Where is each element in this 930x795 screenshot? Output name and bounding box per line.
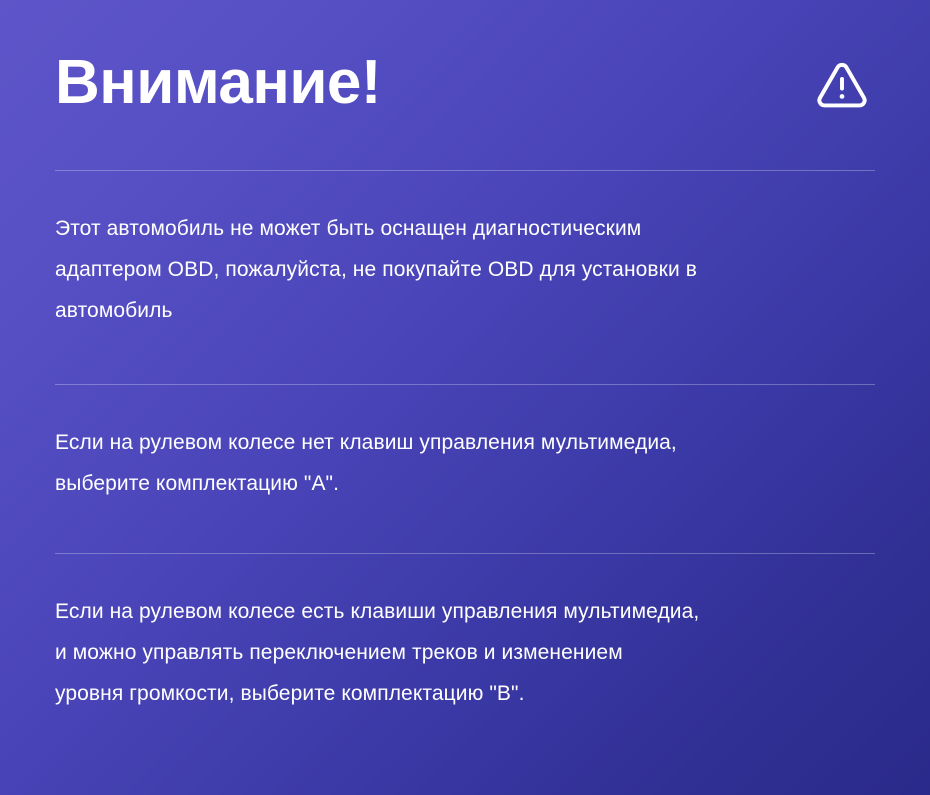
warning-triangle-icon — [812, 55, 872, 115]
notice-body: Этот автомобиль не может быть оснащен ди… — [55, 171, 875, 715]
warning-notice-card: Внимание! Этот автомобиль не может быть … — [0, 0, 930, 795]
notice-block-obd-warning: Этот автомобиль не может быть оснащен ди… — [55, 171, 875, 384]
notice-line: автомобиль — [55, 291, 875, 332]
notice-header: Внимание! — [55, 0, 875, 170]
notice-line: выберите комплектацию "A". — [55, 464, 875, 505]
notice-line: и можно управлять переключением треков и… — [55, 633, 875, 674]
notice-line: Этот автомобиль не может быть оснащен ди… — [55, 209, 875, 250]
notice-block-variant-a: Если на рулевом колесе нет клавиш управл… — [55, 385, 875, 553]
notice-line: уровня громкости, выберите комплектацию … — [55, 674, 875, 715]
notice-line: Если на рулевом колесе нет клавиш управл… — [55, 423, 875, 464]
notice-block-variant-b: Если на рулевом колесе есть клавиши упра… — [55, 554, 875, 715]
page-title: Внимание! — [55, 52, 381, 118]
notice-line: Если на рулевом колесе есть клавиши упра… — [55, 592, 875, 633]
notice-line: адаптером OBD, пожалуйста, не покупайте … — [55, 250, 875, 291]
